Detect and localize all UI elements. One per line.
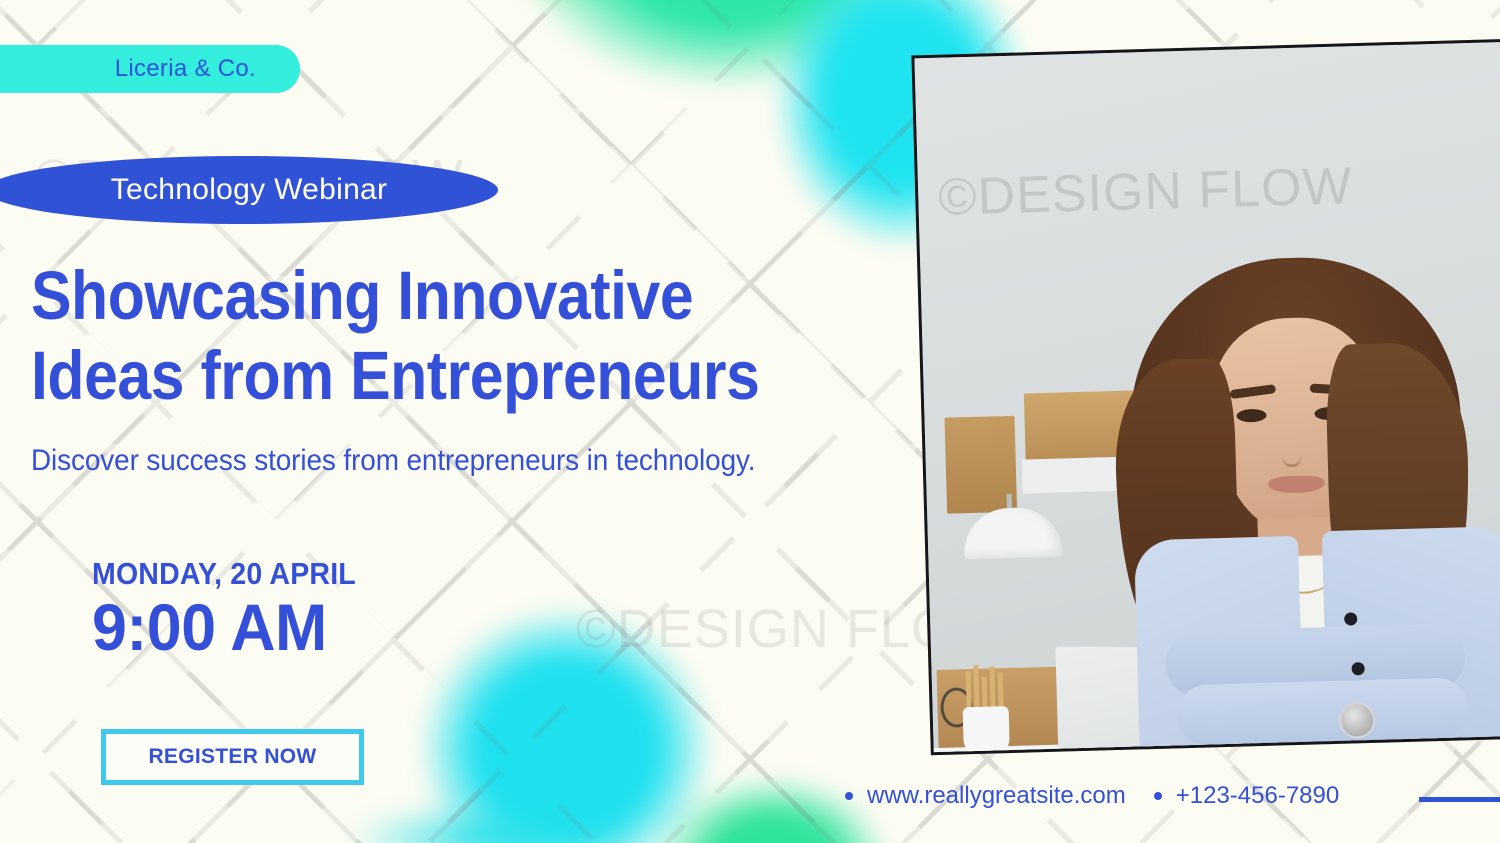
- speaker-photo: designed with love: [911, 39, 1500, 755]
- photo-arm-lower: [1176, 677, 1470, 747]
- footer-website[interactable]: www.reallygreatsite.com: [867, 782, 1126, 810]
- page-title-line-2: Ideas from Entrepreneurs: [31, 336, 849, 416]
- watermark-text: ©DESIGN FLOW: [937, 156, 1353, 228]
- event-category-label: Technology Webinar: [97, 173, 388, 207]
- photo-nose: [1281, 432, 1302, 468]
- photo-person: [1090, 229, 1500, 752]
- event-date: MONDAY, 20 APRIL: [92, 556, 356, 592]
- bullet-icon: [1154, 792, 1162, 800]
- photo-pencil-cup: [963, 706, 1010, 752]
- brand-badge: Liceria & Co.: [0, 45, 300, 93]
- footer-contact: www.reallygreatsite.com +123-456-7890: [845, 782, 1339, 810]
- footer-rule: [1419, 797, 1500, 802]
- register-now-label: REGISTER NOW: [148, 745, 316, 769]
- speaker-photo-image: designed with love: [914, 42, 1500, 752]
- footer-phone[interactable]: +123-456-7890: [1176, 782, 1339, 810]
- brand-name: Liceria & Co.: [115, 55, 256, 83]
- event-schedule: MONDAY, 20 APRIL 9:00 AM: [92, 556, 379, 661]
- event-time: 9:00 AM: [92, 594, 365, 661]
- event-category-pill: Technology Webinar: [0, 156, 498, 224]
- page-title-line-1: Showcasing Innovative: [31, 256, 849, 336]
- bullet-icon: [845, 792, 853, 800]
- page-subtitle: Discover success stories from entreprene…: [31, 444, 755, 478]
- page-title: Showcasing Innovative Ideas from Entrepr…: [31, 256, 849, 416]
- webinar-poster: ©DESIGN FLOW ©DESIGN FLOW designed with …: [0, 0, 1500, 843]
- gradient-blob-bottom-accent: [300, 790, 680, 843]
- register-now-button[interactable]: REGISTER NOW: [101, 729, 364, 785]
